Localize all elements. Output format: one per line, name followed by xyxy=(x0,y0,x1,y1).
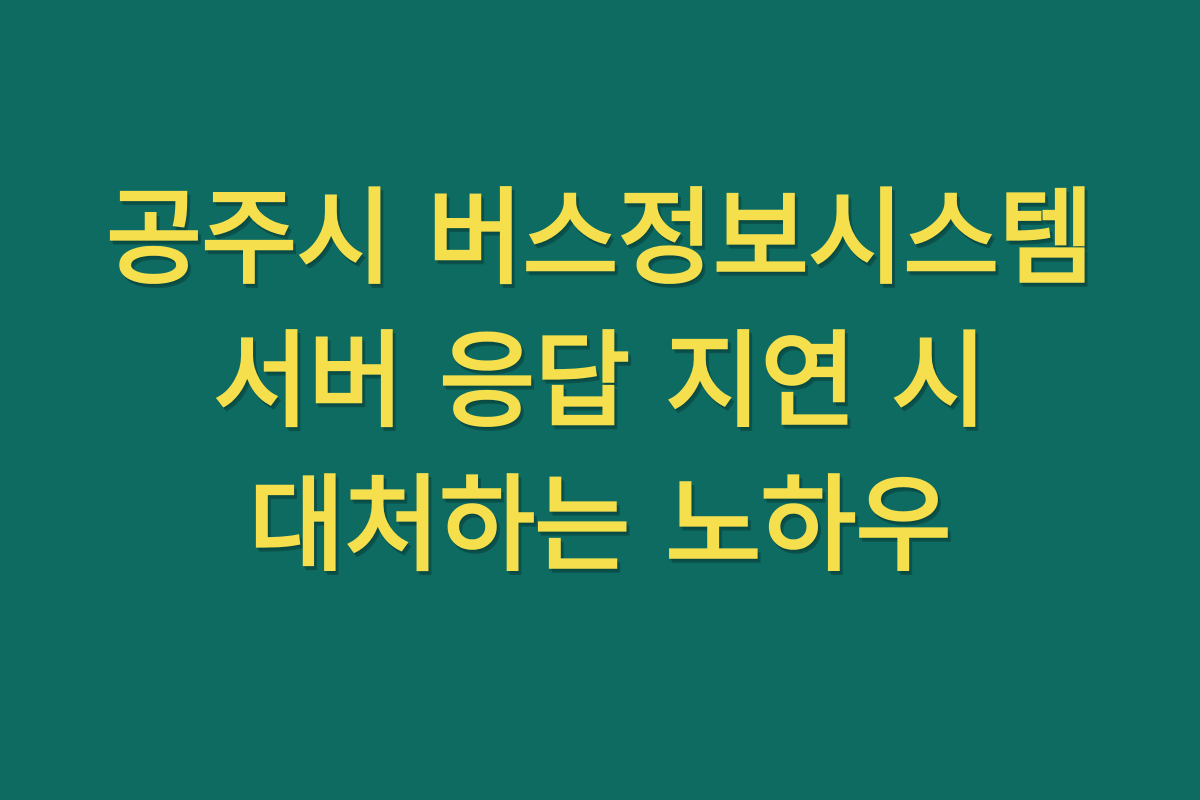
headline-block: 공주시 버스정보시스템 서버 응답 지연 시 대처하는 노하우 xyxy=(60,167,1140,598)
page-title: 공주시 버스정보시스템 서버 응답 지연 시 대처하는 노하우 xyxy=(60,167,1140,598)
poster-canvas: 공주시 버스정보시스템 서버 응답 지연 시 대처하는 노하우 xyxy=(0,0,1200,800)
